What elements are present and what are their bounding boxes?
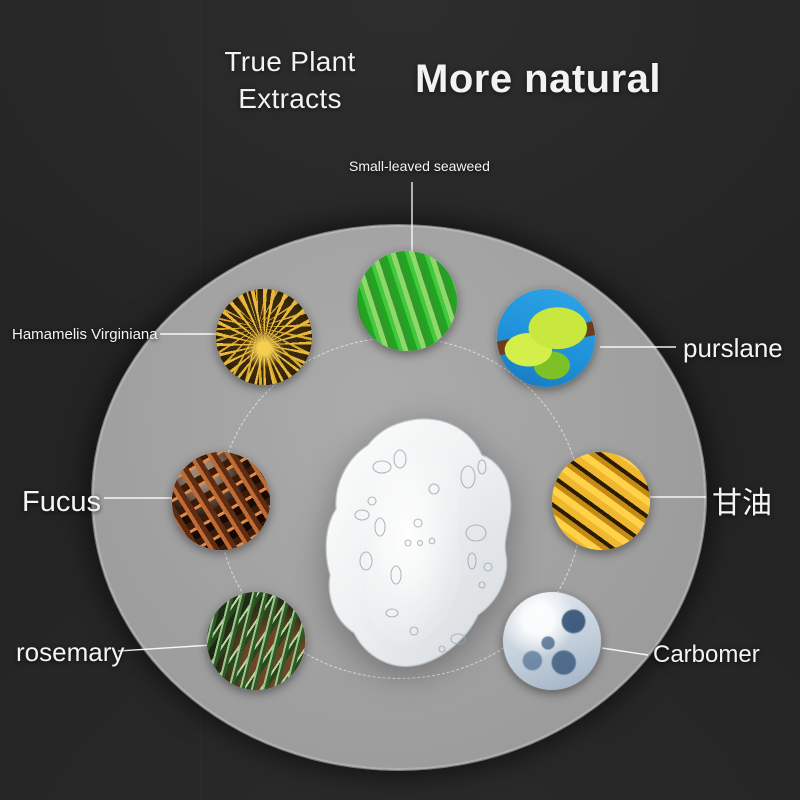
label-purslane: purslane <box>683 333 783 364</box>
label-glycerin: 甘油 <box>712 478 772 522</box>
label-fucus: Fucus <box>22 486 101 519</box>
hamamelis-photo <box>216 289 312 385</box>
page-title-right: More natural <box>415 57 661 102</box>
purslane-photo <box>497 289 595 387</box>
ingredient-bubble-hamamelis[interactable] <box>216 289 312 385</box>
gel-highlight <box>365 442 460 644</box>
ingredient-infographic: True Plant Extracts More natural <box>0 0 800 800</box>
rosemary-photo <box>207 592 305 690</box>
ingredient-bubble-fucus[interactable] <box>172 452 270 550</box>
ingredient-bubble-glycerin[interactable] <box>552 452 650 550</box>
ingredient-bubble-rosemary[interactable] <box>207 592 305 690</box>
page-title-left: True Plant Extracts <box>200 44 380 118</box>
label-seaweed: Small-leaved seaweed <box>349 158 490 174</box>
label-carbomer: Carbomer <box>653 641 760 669</box>
seaweed-photo <box>357 251 457 351</box>
gel-blob <box>322 415 522 673</box>
glycerin-photo <box>552 452 650 550</box>
page-title-left-line2: Extracts <box>200 81 380 118</box>
label-hamamelis: Hamamelis Virginiana <box>12 326 158 343</box>
ingredient-bubble-seaweed[interactable] <box>357 251 457 351</box>
ingredient-bubble-purslane[interactable] <box>497 289 595 387</box>
label-rosemary: rosemary <box>16 637 124 668</box>
fucus-photo <box>172 452 270 550</box>
page-title-left-line1: True Plant <box>200 44 380 81</box>
